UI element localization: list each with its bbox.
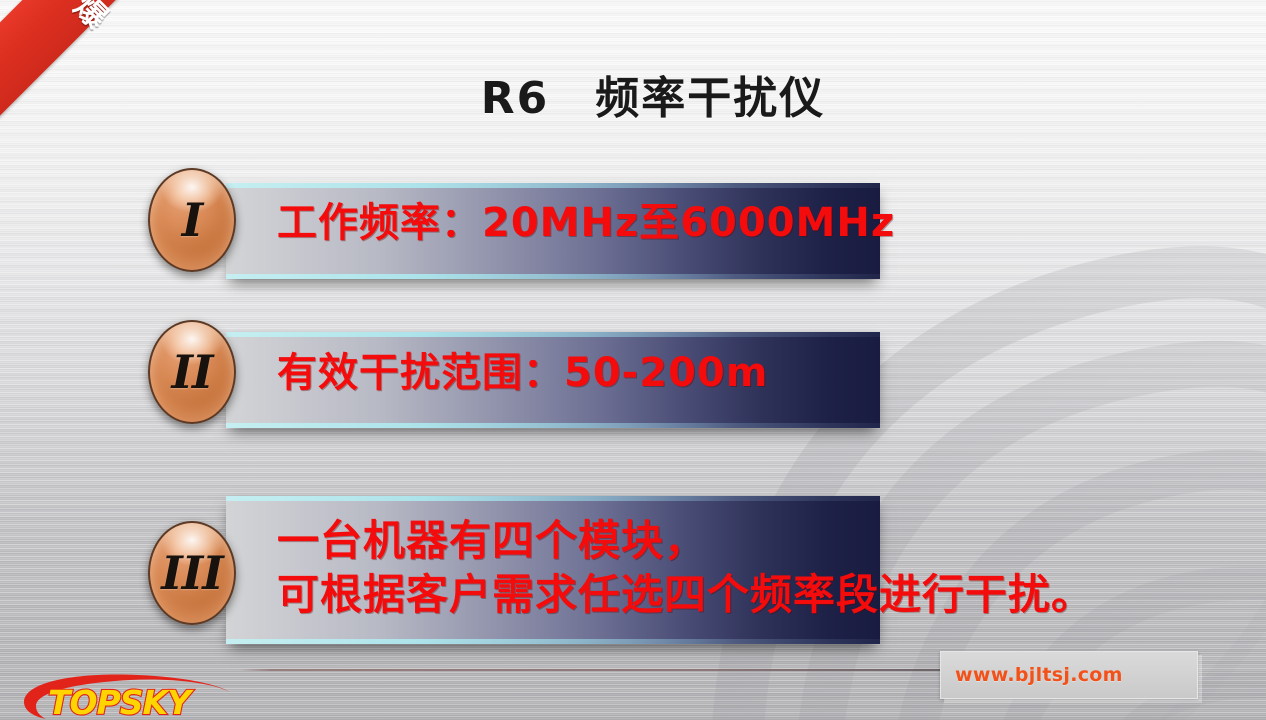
numeral-badge-3-label: III [161,546,223,600]
numeral-badge-3: III [148,521,236,625]
slide-canvas: 排爆 R6 频率干扰仪 I 工作频率：20MHz至6000MHz II 有效干扰… [0,0,1266,720]
numeral-badge-2: II [148,320,236,424]
numeral-badge-1-label: I [182,193,203,247]
numeral-badge-1: I [148,168,236,272]
page-title: R6 频率干扰仪 [0,62,1266,126]
feature-text-3-line-2: 可根据客户需求任选四个频率段进行干扰。 [277,568,1094,622]
numeral-badge-2-label: II [171,345,212,399]
footer-divider [240,669,1010,671]
website-url[interactable]: www.bjltsj.com [955,664,1123,686]
ribbon-label: 排爆 [21,0,131,48]
feature-text-2: 有效干扰范围：50-200m [277,352,768,394]
website-box[interactable]: www.bjltsj.com [940,651,1198,699]
logo-wordmark: TOPSKY [48,683,194,720]
feature-text-1: 工作频率：20MHz至6000MHz [277,202,895,244]
feature-text-3: 一台机器有四个模块， 可根据客户需求任选四个频率段进行干扰。 [277,514,1094,622]
topsky-logo: TOPSKY [18,672,236,720]
feature-text-3-line-1: 一台机器有四个模块， [277,514,1094,568]
